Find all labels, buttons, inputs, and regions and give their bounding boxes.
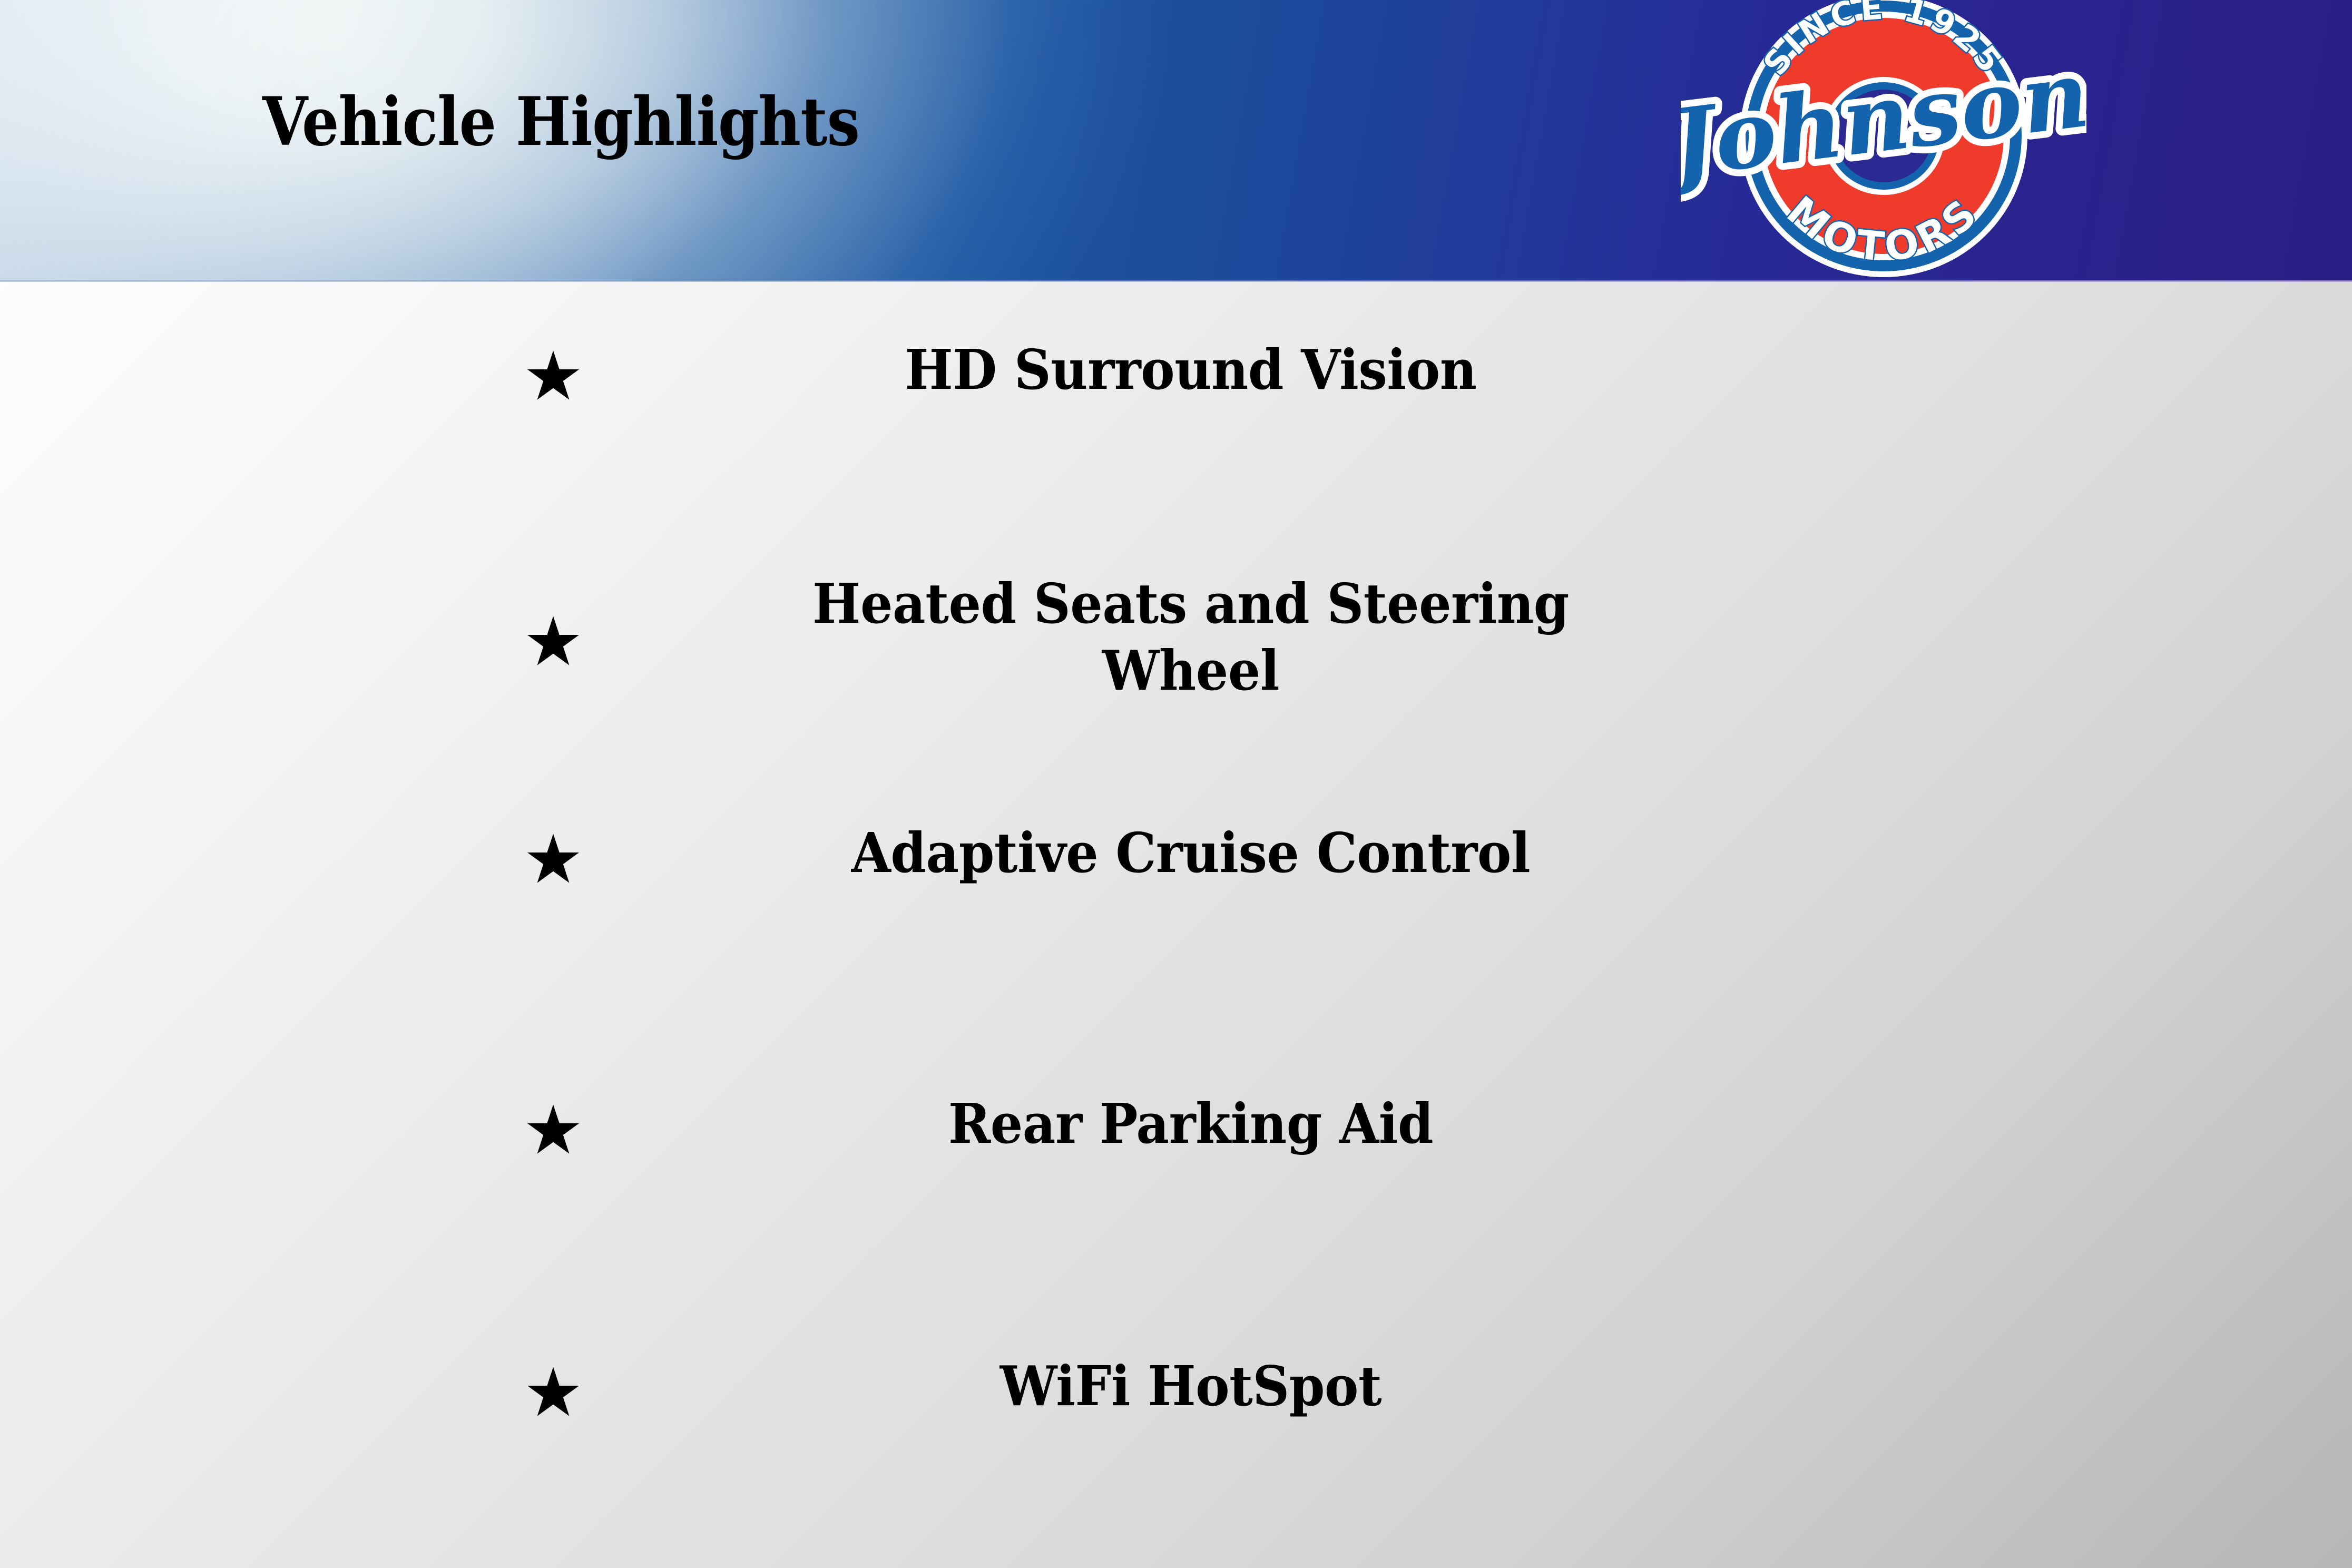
list-item: ★ Rear Parking Aid (0, 1091, 2352, 1185)
star-icon: ★ (519, 1359, 587, 1427)
star-icon: ★ (519, 609, 587, 676)
johnson-motors-logo: SINCE 1925 MOTORS Johnson Johnson (1681, 0, 2086, 277)
star-icon: ★ (519, 826, 587, 894)
list-item: ★ Heated Seats and Steering Wheel (0, 571, 2352, 729)
list-item: ★ WiFi HotSpot (0, 1353, 2352, 1448)
page-title: Vehicle Highlights (262, 89, 859, 155)
vehicle-highlights-list: ★ HD Surround Vision ★ Heated Seats and … (0, 281, 2352, 1568)
highlight-label: HD Surround Vision (735, 337, 1647, 404)
highlight-label: Rear Parking Aid (735, 1091, 1647, 1158)
star-icon: ★ (519, 1097, 587, 1164)
list-item: ★ Adaptive Cruise Control (0, 820, 2352, 915)
highlight-label: Adaptive Cruise Control (735, 820, 1647, 887)
highlight-label: Heated Seats and Steering Wheel (735, 571, 1647, 704)
highlight-label: WiFi HotSpot (735, 1353, 1647, 1420)
vehicle-highlights-slide: Vehicle Highlights SINCE 1925 (0, 0, 2352, 1568)
star-icon: ★ (519, 343, 587, 410)
list-item: ★ HD Surround Vision (0, 337, 2352, 432)
